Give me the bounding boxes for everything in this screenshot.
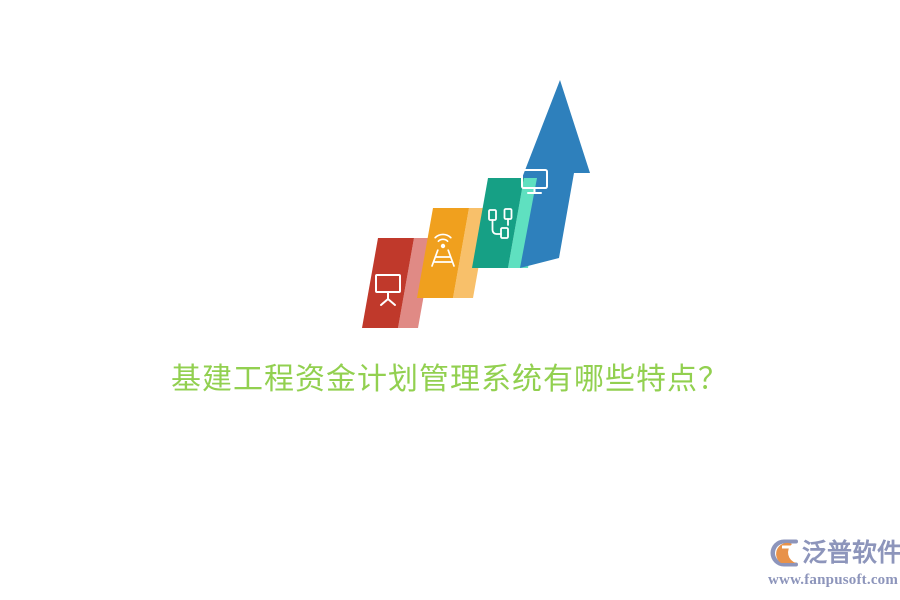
step-blue-arrow-shape — [520, 80, 590, 268]
brand-logo-top: 泛普软件 — [766, 536, 894, 570]
infographic-step-blue-arrow — [520, 80, 590, 268]
page-title: 基建工程资金计划管理系统有哪些特点？ — [0, 358, 900, 402]
fanpu-swoosh-icon — [766, 537, 800, 569]
brand-logo[interactable]: 泛普软件 www.fanpusoft.com — [766, 536, 894, 592]
brand-website[interactable]: www.fanpusoft.com — [766, 571, 894, 589]
growth-arrow-infographic — [350, 70, 600, 350]
brand-name: 泛普软件 — [802, 539, 900, 567]
page-root: 基建工程资金计划管理系统有哪些特点？ 泛普软件 www.fanpusoft.co… — [0, 0, 900, 600]
